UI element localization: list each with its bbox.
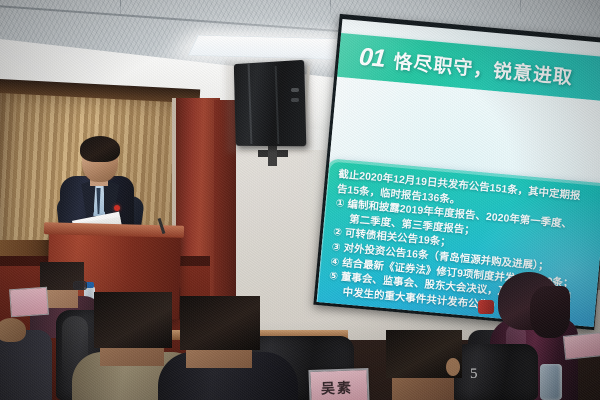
attendee-hair xyxy=(180,296,260,350)
name-placard xyxy=(563,332,600,360)
slide-section-number: 01 xyxy=(358,42,386,73)
slide-item-4-marker: ④ xyxy=(330,256,340,268)
name-placard-text: 吴素 xyxy=(313,377,362,399)
slide-item-3-marker: ③ xyxy=(331,242,341,254)
name-placard xyxy=(9,287,49,318)
slide-item-2-marker: ② xyxy=(333,227,343,239)
slide-section-title: 恪尽职守，锐意进取 xyxy=(393,46,575,89)
attendee-hair xyxy=(530,286,570,338)
office-chair xyxy=(452,344,538,400)
attendee-ear xyxy=(446,358,460,376)
attendee-head xyxy=(0,318,26,342)
projection-screen: 01 恪尽职守，锐意进取 截止2020年12月19日共发布公告151条，其中定期… xyxy=(317,19,600,327)
water-bottle xyxy=(540,364,562,400)
slide-item-5-marker: ⑤ xyxy=(329,271,339,283)
red-cup xyxy=(478,300,494,314)
slide-item-1-marker: ① xyxy=(335,198,345,210)
speaker-port xyxy=(291,98,299,102)
attendee-hair xyxy=(94,292,172,348)
bottle-cap xyxy=(85,282,94,288)
eyeglasses-icon xyxy=(74,282,86,289)
lapel-pin-icon xyxy=(114,205,120,211)
speaker-port xyxy=(291,88,299,92)
speaker-hair xyxy=(80,136,120,162)
wall-mounted-loudspeaker xyxy=(234,60,307,146)
conference-room-photo: 01 恪尽职守，锐意进取 截止2020年12月19日共发布公告151条，其中定期… xyxy=(0,0,600,400)
chair-number-label: 5 xyxy=(470,366,478,383)
